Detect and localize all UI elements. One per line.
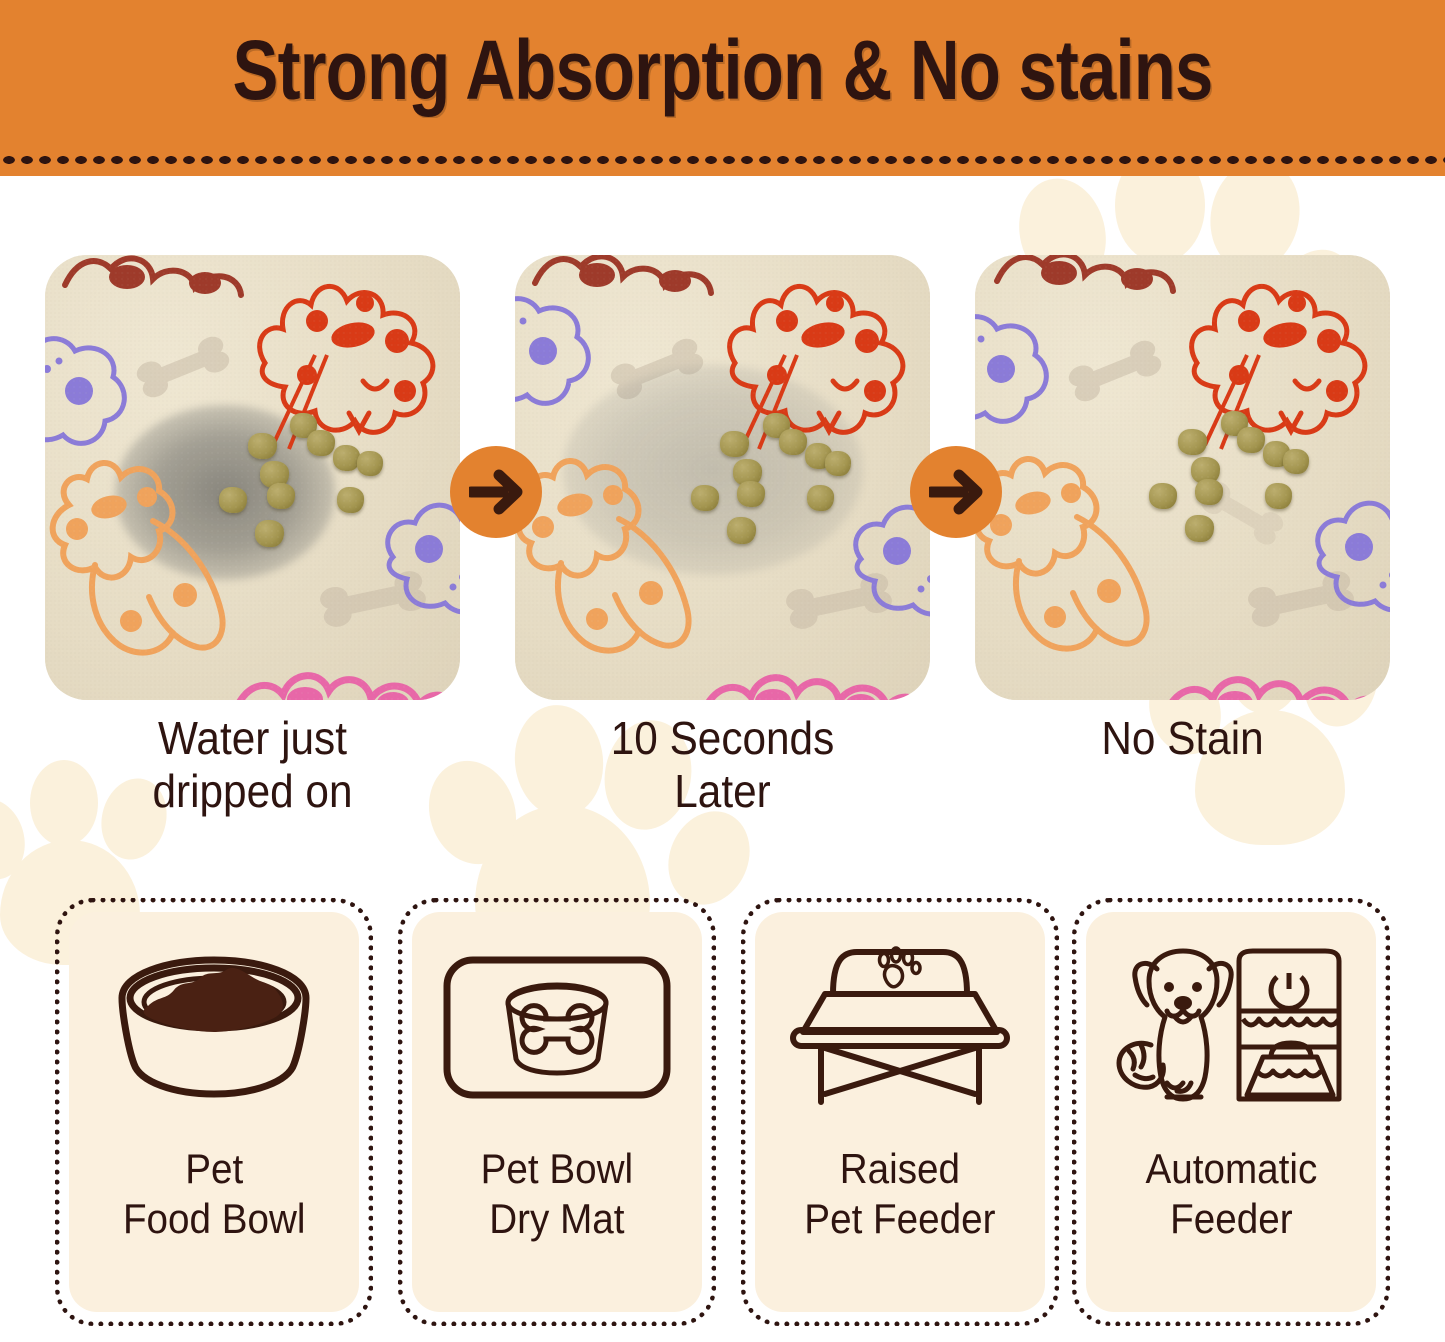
demo-caption-3: No Stain [992, 712, 1374, 765]
caption-line-1: Water just [62, 712, 444, 765]
card-label-line-1: Raised [804, 1144, 995, 1194]
pet-bowl-dry-mat-icon [412, 912, 702, 1142]
mat-texture [45, 255, 460, 700]
card-label-line-2: Food Bowl [123, 1194, 306, 1244]
compat-card-raised-pet-feeder[interactable]: Raised Pet Feeder [741, 898, 1059, 1326]
caption-line-2: dripped on [62, 765, 444, 818]
card-label: Pet Bowl Dry Mat [481, 1144, 633, 1243]
caption-line-2: Later [532, 765, 914, 818]
page-title: Strong Absorption & No stains [130, 22, 1315, 119]
pet-food-bowl-icon [69, 912, 359, 1142]
card-label: Automatic Feeder [1145, 1144, 1317, 1243]
infographic-page: Strong Absorption & No stains [0, 0, 1445, 1342]
card-panel: Pet Bowl Dry Mat [412, 912, 702, 1312]
card-label-line-1: Pet Bowl [481, 1144, 633, 1194]
raised-pet-feeder-icon [755, 912, 1045, 1142]
compatibility-cards: Pet Food Bowl Pet Bowl Dry M [0, 898, 1445, 1328]
demo-photo-step-3 [975, 255, 1390, 700]
card-panel: Automatic Feeder [1086, 912, 1376, 1312]
compat-card-pet-food-bowl[interactable]: Pet Food Bowl [55, 898, 373, 1326]
demo-caption-1: Water just dripped on [62, 712, 444, 819]
card-label-line-2: Dry Mat [481, 1194, 633, 1244]
card-panel: Raised Pet Feeder [755, 912, 1045, 1312]
compat-card-pet-bowl-dry-mat[interactable]: Pet Bowl Dry Mat [398, 898, 716, 1326]
header-banner: Strong Absorption & No stains [0, 0, 1445, 176]
card-label-line-1: Pet [123, 1144, 306, 1194]
mat-texture [975, 255, 1390, 700]
caption-line-1: No Stain [992, 712, 1374, 765]
demo-caption-2: 10 Seconds Later [532, 712, 914, 819]
arrow-right-icon [910, 446, 1002, 538]
card-label: Raised Pet Feeder [804, 1144, 995, 1243]
card-label-line-2: Feeder [1145, 1194, 1317, 1244]
absorption-demo-row [0, 255, 1445, 700]
header-dot-divider [0, 154, 1445, 166]
mat-texture [515, 255, 930, 700]
card-label-line-2: Pet Feeder [804, 1194, 995, 1244]
compat-card-automatic-feeder[interactable]: Automatic Feeder [1072, 898, 1390, 1326]
automatic-feeder-icon [1086, 912, 1376, 1142]
demo-photo-step-2 [515, 255, 930, 700]
card-label: Pet Food Bowl [123, 1144, 306, 1243]
caption-line-1: 10 Seconds [532, 712, 914, 765]
card-panel: Pet Food Bowl [69, 912, 359, 1312]
demo-photo-step-1 [45, 255, 460, 700]
card-label-line-1: Automatic [1145, 1144, 1317, 1194]
arrow-right-icon [450, 446, 542, 538]
